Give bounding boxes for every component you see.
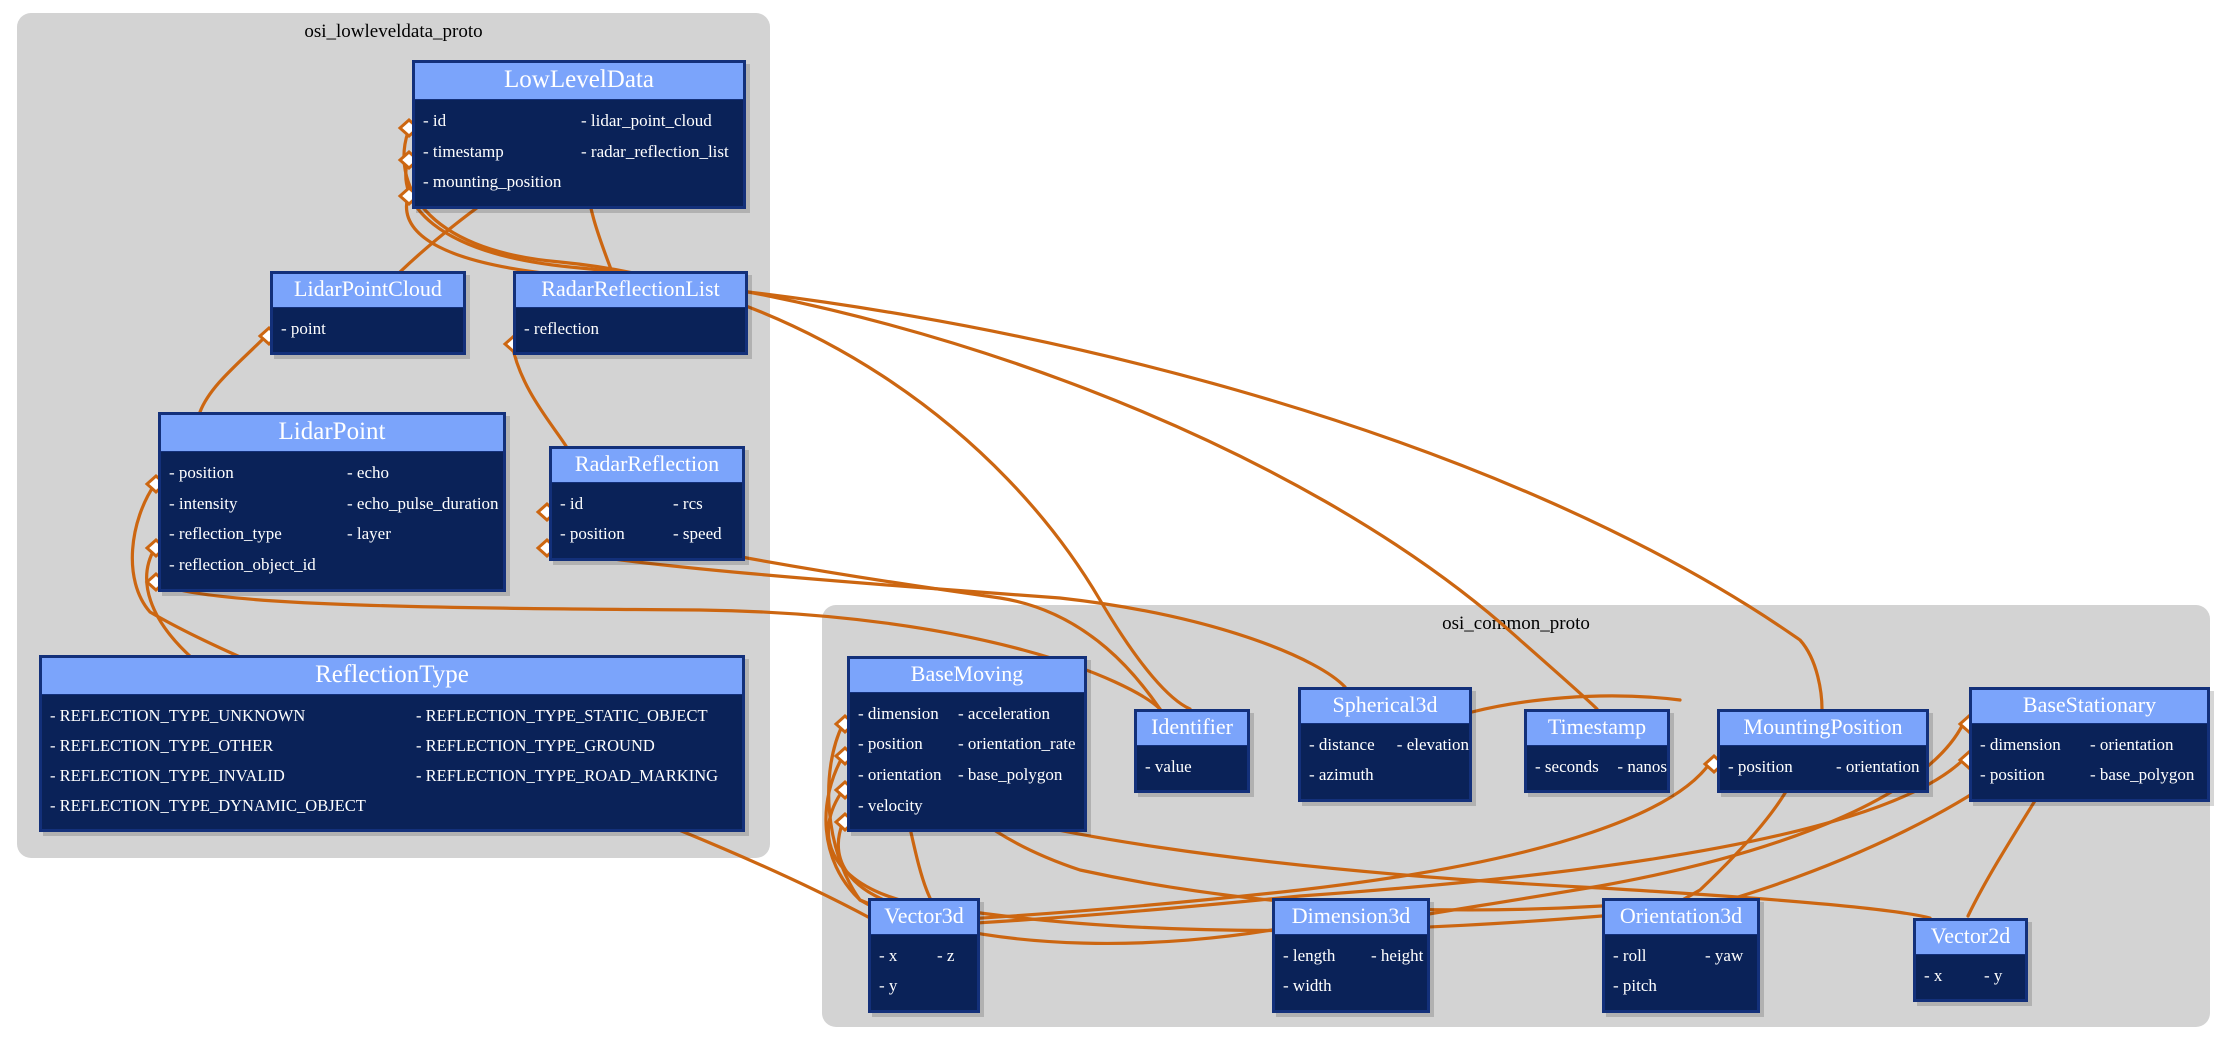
attribute: - dimension — [1972, 730, 2082, 761]
attribute: - REFLECTION_TYPE_INVALID — [42, 761, 408, 791]
class-box-spherical3d[interactable]: Spherical3d - distance- elevation - azim… — [1298, 687, 1472, 802]
attribute: - mounting_position — [415, 167, 573, 198]
attribute: - y — [871, 971, 929, 1002]
attribute: - pitch — [1605, 971, 1697, 1002]
attribute: - radar_reflection_list — [573, 137, 729, 168]
class-attributes-basemoving: - dimension- acceleration - position- or… — [850, 693, 1084, 830]
attribute: - echo — [339, 458, 389, 489]
attribute: - intensity — [161, 489, 339, 520]
class-box-dimension3d[interactable]: Dimension3d - length- height - width — [1272, 898, 1430, 1013]
class-box-timestamp[interactable]: Timestamp - seconds- nanos — [1524, 709, 1670, 793]
attribute: - acceleration — [950, 699, 1050, 730]
attribute: - x — [1916, 961, 1976, 992]
attribute: - reflection_object_id — [161, 550, 339, 581]
attribute: - orientation — [1828, 752, 1920, 783]
class-box-lidarpointcloud[interactable]: LidarPointCloud - point — [270, 271, 466, 355]
package-label-common: osi_common_proto — [822, 613, 2210, 635]
class-title-reflectiontype: ReflectionType — [42, 658, 742, 695]
attribute: - position — [552, 519, 665, 550]
class-box-vector2d[interactable]: Vector2d - x- y — [1913, 918, 2028, 1002]
class-attributes-reflectiontype: - REFLECTION_TYPE_UNKNOWN- REFLECTION_TY… — [42, 695, 742, 829]
attribute: - REFLECTION_TYPE_STATIC_OBJECT — [408, 701, 708, 731]
class-box-orientation3d[interactable]: Orientation3d - roll- yaw - pitch — [1602, 898, 1760, 1013]
attribute: - elevation — [1389, 730, 1469, 761]
attribute: - position — [161, 458, 339, 489]
attribute: - lidar_point_cloud — [573, 106, 712, 137]
class-box-lidarpoint[interactable]: LidarPoint - position- echo - intensity-… — [158, 412, 506, 592]
attribute: - roll — [1605, 941, 1697, 972]
attribute: - z — [929, 941, 954, 972]
attribute: - orientation — [2082, 730, 2174, 761]
class-attributes-lidarpoint: - position- echo - intensity- echo_pulse… — [161, 452, 503, 589]
class-attributes-identifier: - value — [1137, 746, 1247, 791]
class-title-spherical3d: Spherical3d — [1301, 690, 1469, 724]
attribute: - yaw — [1697, 941, 1743, 972]
attribute: - REFLECTION_TYPE_ROAD_MARKING — [408, 761, 718, 791]
class-title-basestationary: BaseStationary — [1972, 690, 2207, 724]
uml-diagram-canvas: osi_lowleveldata_proto osi_common_proto — [0, 0, 2224, 1040]
attribute: - REFLECTION_TYPE_OTHER — [42, 731, 408, 761]
class-title-orientation3d: Orientation3d — [1605, 901, 1757, 935]
class-box-mountingposition[interactable]: MountingPosition - position- orientation — [1717, 709, 1929, 793]
class-attributes-radarreflection: - id- rcs - position- speed — [552, 483, 742, 558]
attribute: - echo_pulse_duration — [339, 489, 499, 520]
attribute: - position — [850, 729, 950, 760]
attribute: - reflection — [516, 314, 599, 345]
class-title-identifier: Identifier — [1137, 712, 1247, 746]
attribute: - position — [1720, 752, 1828, 783]
class-attributes-orientation3d: - roll- yaw - pitch — [1605, 935, 1757, 1010]
attribute: - id — [552, 489, 665, 520]
class-box-lowleveldata[interactable]: LowLevelData - id- lidar_point_cloud - t… — [412, 60, 746, 209]
attribute: - width — [1275, 971, 1363, 1002]
class-title-vector2d: Vector2d — [1916, 921, 2025, 955]
class-box-radarreflectionlist[interactable]: RadarReflectionList - reflection — [513, 271, 748, 355]
class-attributes-vector3d: - x- z - y — [871, 935, 977, 1010]
attribute: - REFLECTION_TYPE_UNKNOWN — [42, 701, 408, 731]
attribute: - orientation_rate — [950, 729, 1076, 760]
class-box-reflectiontype[interactable]: ReflectionType - REFLECTION_TYPE_UNKNOWN… — [39, 655, 745, 832]
attribute: - speed — [665, 519, 722, 550]
class-attributes-basestationary: - dimension- orientation - position- bas… — [1972, 724, 2207, 799]
class-title-dimension3d: Dimension3d — [1275, 901, 1427, 935]
class-title-timestamp: Timestamp — [1527, 712, 1667, 746]
attribute: - y — [1976, 961, 2002, 992]
attribute: - position — [1972, 760, 2082, 791]
package-label-lowleveldata: osi_lowleveldata_proto — [17, 21, 770, 43]
class-title-vector3d: Vector3d — [871, 901, 977, 935]
class-attributes-lowleveldata: - id- lidar_point_cloud - timestamp- rad… — [415, 100, 743, 206]
attribute: - azimuth — [1301, 760, 1395, 791]
class-attributes-mountingposition: - position- orientation — [1720, 746, 1926, 791]
class-title-mountingposition: MountingPosition — [1720, 712, 1926, 746]
attribute: - reflection_type — [161, 519, 339, 550]
attribute: - point — [273, 314, 326, 345]
attribute: - id — [415, 106, 573, 137]
class-attributes-vector2d: - x- y — [1916, 955, 2025, 1000]
attribute: - layer — [339, 519, 391, 550]
attribute: - velocity — [850, 791, 950, 822]
attribute: - base_polygon — [2082, 760, 2194, 791]
attribute: - height — [1363, 941, 1423, 972]
attribute: - x — [871, 941, 929, 972]
attribute: - rcs — [665, 489, 703, 520]
class-attributes-lidarpointcloud: - point — [273, 308, 463, 353]
class-box-identifier[interactable]: Identifier - value — [1134, 709, 1250, 793]
attribute: - seconds — [1527, 752, 1609, 783]
class-title-basemoving: BaseMoving — [850, 659, 1084, 693]
class-attributes-dimension3d: - length- height - width — [1275, 935, 1427, 1010]
attribute: - REFLECTION_TYPE_GROUND — [408, 731, 655, 761]
attribute: - distance — [1301, 730, 1389, 761]
class-box-basestationary[interactable]: BaseStationary - dimension- orientation … — [1969, 687, 2210, 802]
class-title-lowleveldata: LowLevelData — [415, 63, 743, 100]
class-title-radarreflectionlist: RadarReflectionList — [516, 274, 745, 308]
class-box-radarreflection[interactable]: RadarReflection - id- rcs - position- sp… — [549, 446, 745, 561]
attribute: - nanos — [1609, 752, 1667, 783]
attribute: - dimension — [850, 699, 950, 730]
class-attributes-spherical3d: - distance- elevation - azimuth — [1301, 724, 1469, 799]
attribute: - timestamp — [415, 137, 573, 168]
class-box-vector3d[interactable]: Vector3d - x- z - y — [868, 898, 980, 1013]
class-attributes-radarreflectionlist: - reflection — [516, 308, 745, 353]
class-title-lidarpoint: LidarPoint — [161, 415, 503, 452]
class-title-radarreflection: RadarReflection — [552, 449, 742, 483]
class-title-lidarpointcloud: LidarPointCloud — [273, 274, 463, 308]
attribute: - length — [1275, 941, 1363, 972]
attribute: - value — [1137, 752, 1192, 783]
attribute: - base_polygon — [950, 760, 1062, 791]
attribute: - REFLECTION_TYPE_DYNAMIC_OBJECT — [42, 791, 408, 821]
class-box-basemoving[interactable]: BaseMoving - dimension- acceleration - p… — [847, 656, 1087, 832]
class-attributes-timestamp: - seconds- nanos — [1527, 746, 1667, 791]
attribute: - orientation — [850, 760, 950, 791]
